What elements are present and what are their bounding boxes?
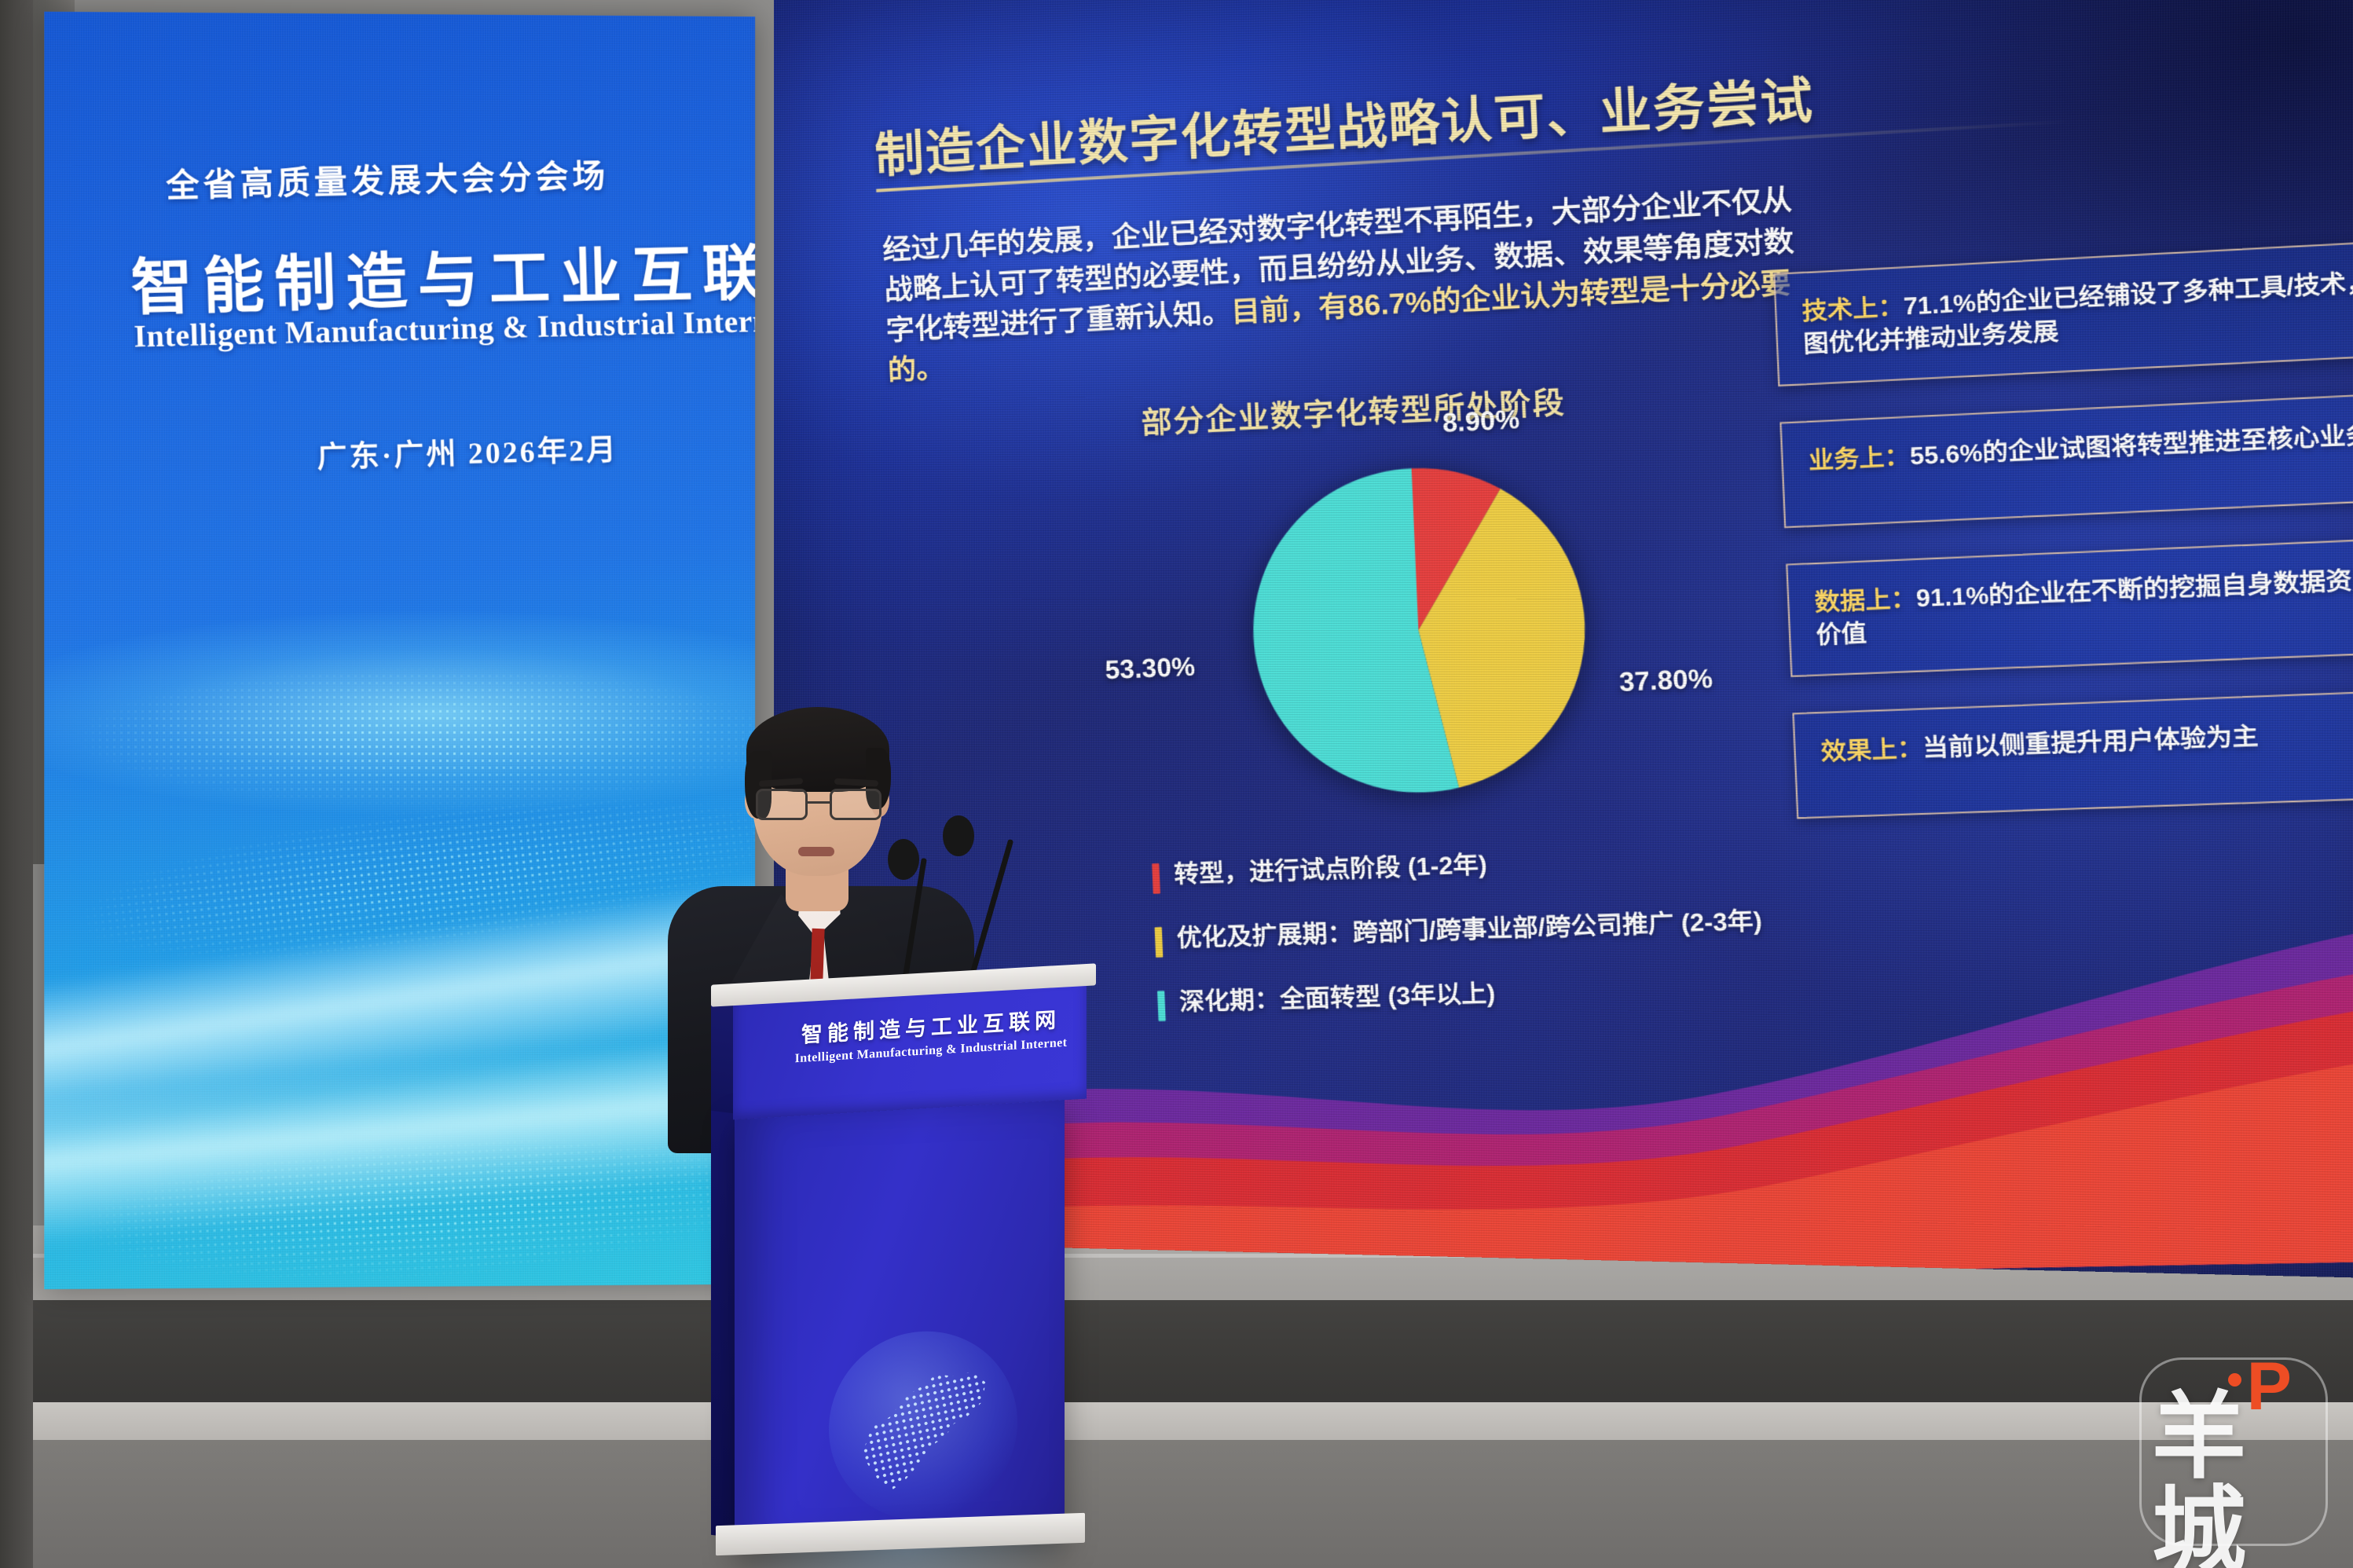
watermark-text: 羊城 (2152, 1390, 2328, 1568)
callout-box: 数据上：91.1%的企业在不断的挖掘自身数据资产的价值 (1786, 537, 2353, 678)
callout-text: 技术上：71.1%的企业已经铺设了多种工具/技术，试图优化并推动业务发展 (1801, 265, 2353, 361)
watermark-dot-icon (2228, 1373, 2241, 1387)
callout-body: 55.6%的企业试图将转型推进至核心业务 (1909, 422, 2353, 471)
legend-swatch (1152, 863, 1160, 894)
callout-body: 当前以侧重提升用户体验为主 (1922, 724, 2260, 763)
banner-kicker: 全省高质量发展大会分会场 (165, 149, 610, 207)
watermark: 羊城 P (2139, 1357, 2328, 1546)
pie-label-3: 53.30% (1105, 651, 1196, 685)
podium: 智能制造与工业互联网 Intelligent Manufacturing & I… (711, 974, 1096, 1548)
callout-box: 效果上：当前以侧重提升用户体验为主 (1792, 689, 2353, 819)
callout-label: 业务上： (1808, 443, 1911, 474)
pie-label-2: 37.80% (1618, 663, 1713, 698)
slide-title: 制造企业数字化转型战略认可、业务尝试 (873, 38, 2164, 186)
pie-label-1: 8.90% (1442, 404, 1520, 438)
slide-body-paragraph: 经过几年的发展，企业已经对数字化转型不再陌生，大部分企业不仅从战略上认可了转型的… (881, 177, 1827, 390)
glasses-lens-left (756, 789, 808, 820)
floor-light-band (0, 1402, 2353, 1440)
podium-body (735, 1098, 1065, 1551)
event-banner-panel: 全省高质量发展大会分会场 智能制造与工业互联网 Intelligent Manu… (44, 12, 755, 1289)
callout-label: 效果上： (1820, 735, 1923, 766)
microphone-head-right (943, 815, 974, 856)
legend-label: 转型，进行试点阶段 (1-2年) (1174, 849, 1488, 890)
banner-meta: 广东·广州 2026年2月 (317, 425, 619, 476)
callout-label: 技术上： (1801, 294, 1904, 326)
glasses-bridge (808, 801, 830, 804)
callout-box: 业务上：55.6%的企业试图将转型推进至核心业务 (1779, 391, 2353, 528)
floor-dark-band (0, 1300, 2353, 1402)
stage-photo: 全省高质量发展大会分会场 智能制造与工业互联网 Intelligent Manu… (0, 0, 2353, 1568)
left-wall-column (0, 0, 33, 1568)
callout-text: 业务上：55.6%的企业试图将转型推进至核心业务 (1808, 417, 2353, 478)
speaker-mouth (798, 847, 834, 856)
glasses-icon (754, 789, 886, 823)
pie-chart (1241, 453, 1600, 813)
microphone-head-left (888, 839, 919, 880)
watermark-p-mark: P (2247, 1353, 2292, 1420)
callout-label: 数据上： (1814, 585, 1917, 617)
glasses-lens-right (830, 789, 881, 820)
pie-chart-svg (1241, 453, 1600, 805)
callout-box-list: 技术上：71.1%的企业已经铺设了多种工具/技术，试图优化并推动业务发展 业务上… (1773, 239, 2353, 855)
callout-box: 技术上：71.1%的企业已经铺设了多种工具/技术，试图优化并推动业务发展 (1773, 239, 2353, 387)
callout-text: 数据上：91.1%的企业在不断的挖掘自身数据资产的价值 (1814, 562, 2353, 652)
floor-lower-band (0, 1440, 2353, 1568)
callout-text: 效果上：当前以侧重提升用户体验为主 (1820, 715, 2353, 769)
